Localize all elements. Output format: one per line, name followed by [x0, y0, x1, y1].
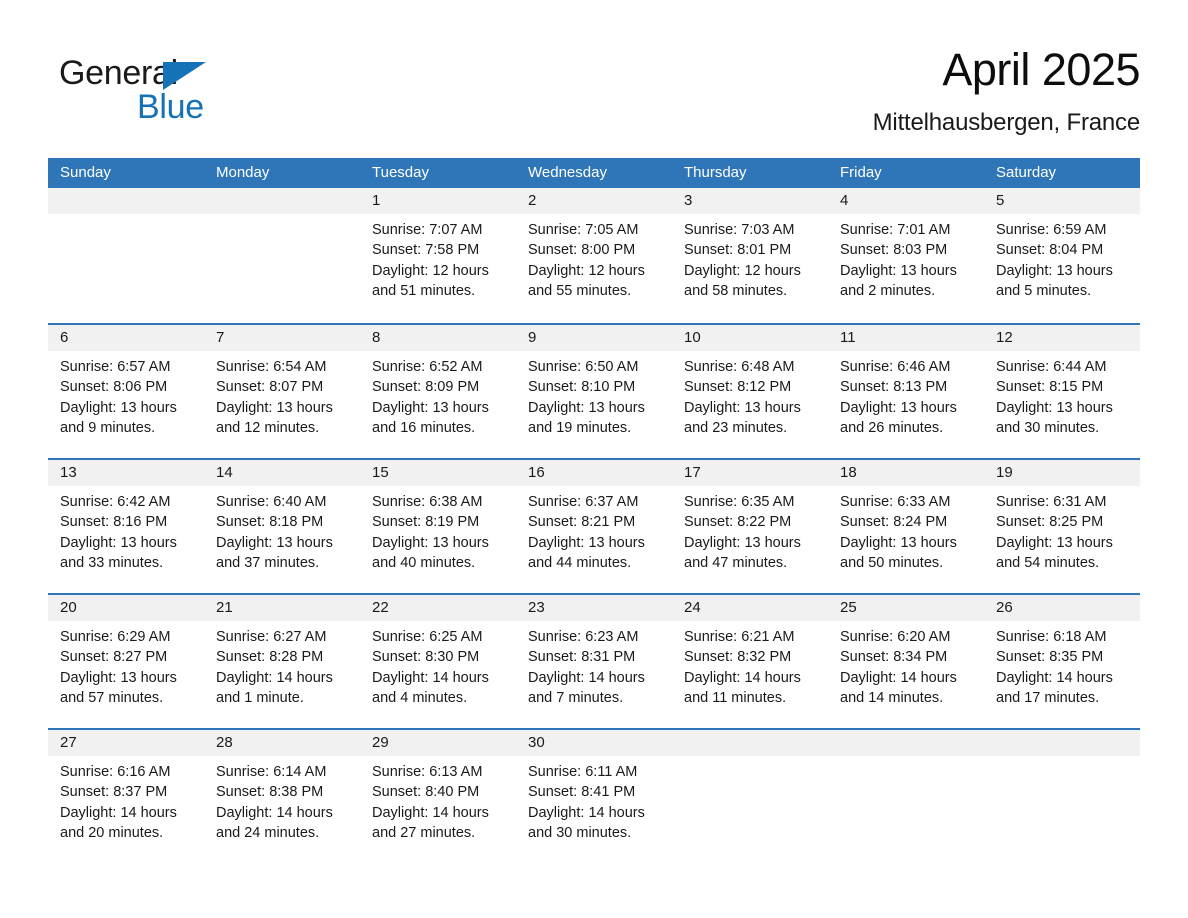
day-number: 10 [684, 329, 701, 346]
sunset-text: Sunset: 8:41 PM [528, 782, 662, 802]
daylight-text-line2: and 40 minutes. [372, 553, 506, 573]
day-number-band: 23 [516, 595, 672, 621]
sunset-text: Sunset: 7:58 PM [372, 240, 506, 260]
sunrise-text: Sunrise: 6:25 AM [372, 627, 506, 647]
calendar-day-cell[interactable]: 6Sunrise: 6:57 AMSunset: 8:06 PMDaylight… [48, 325, 204, 458]
day-number-band: 25 [828, 595, 984, 621]
calendar-day-cell[interactable]: 1Sunrise: 7:07 AMSunset: 7:58 PMDaylight… [360, 188, 516, 323]
daylight-text-line2: and 7 minutes. [528, 688, 662, 708]
calendar-day-cell[interactable]: 19Sunrise: 6:31 AMSunset: 8:25 PMDayligh… [984, 460, 1140, 593]
daylight-text-line2: and 47 minutes. [684, 553, 818, 573]
sunset-text: Sunset: 8:03 PM [840, 240, 974, 260]
day-number-band: 26 [984, 595, 1140, 621]
day-number-band: 16 [516, 460, 672, 486]
daylight-text-line1: Daylight: 13 hours [684, 398, 818, 418]
sunrise-text: Sunrise: 6:33 AM [840, 492, 974, 512]
daylight-text-line1: Daylight: 13 hours [372, 398, 506, 418]
day-number: 8 [372, 329, 380, 346]
daylight-text-line2: and 58 minutes. [684, 281, 818, 301]
calendar-day-cell[interactable]: 16Sunrise: 6:37 AMSunset: 8:21 PMDayligh… [516, 460, 672, 593]
daylight-text-line2: and 20 minutes. [60, 823, 194, 843]
day-details: Sunrise: 7:05 AMSunset: 8:00 PMDaylight:… [516, 214, 672, 302]
day-details: Sunrise: 6:31 AMSunset: 8:25 PMDaylight:… [984, 486, 1140, 574]
day-number-band: 11 [828, 325, 984, 351]
day-number: 18 [840, 464, 857, 481]
sunset-text: Sunset: 8:09 PM [372, 377, 506, 397]
daylight-text-line1: Daylight: 13 hours [528, 398, 662, 418]
day-details: Sunrise: 6:11 AMSunset: 8:41 PMDaylight:… [516, 756, 672, 844]
day-details: Sunrise: 6:35 AMSunset: 8:22 PMDaylight:… [672, 486, 828, 574]
day-number-band: 8 [360, 325, 516, 351]
day-number-band: 10 [672, 325, 828, 351]
day-number: 14 [216, 464, 233, 481]
sunrise-text: Sunrise: 7:03 AM [684, 220, 818, 240]
calendar-week-row: 13Sunrise: 6:42 AMSunset: 8:16 PMDayligh… [48, 458, 1140, 593]
calendar-day-cell[interactable]: 4Sunrise: 7:01 AMSunset: 8:03 PMDaylight… [828, 188, 984, 323]
sunrise-text: Sunrise: 6:44 AM [996, 357, 1130, 377]
daylight-text-line2: and 17 minutes. [996, 688, 1130, 708]
day-number-band [48, 188, 204, 214]
sunrise-text: Sunrise: 6:18 AM [996, 627, 1130, 647]
calendar-weeks: 1Sunrise: 7:07 AMSunset: 7:58 PMDaylight… [48, 188, 1140, 848]
daylight-text-line1: Daylight: 13 hours [216, 533, 350, 553]
day-number-band: 27 [48, 730, 204, 756]
sunrise-text: Sunrise: 6:29 AM [60, 627, 194, 647]
calendar-cell-empty [204, 188, 360, 323]
daylight-text-line2: and 12 minutes. [216, 418, 350, 438]
sunrise-text: Sunrise: 6:14 AM [216, 762, 350, 782]
sunset-text: Sunset: 8:22 PM [684, 512, 818, 532]
sunset-text: Sunset: 8:32 PM [684, 647, 818, 667]
day-details: Sunrise: 6:52 AMSunset: 8:09 PMDaylight:… [360, 351, 516, 439]
day-number-band: 24 [672, 595, 828, 621]
day-number-band: 12 [984, 325, 1140, 351]
sunset-text: Sunset: 8:35 PM [996, 647, 1130, 667]
daylight-text-line2: and 30 minutes. [528, 823, 662, 843]
calendar-day-cell[interactable]: 30Sunrise: 6:11 AMSunset: 8:41 PMDayligh… [516, 730, 672, 848]
page-title: April 2025 [873, 42, 1140, 98]
day-number-band: 1 [360, 188, 516, 214]
day-number: 27 [60, 734, 77, 751]
daylight-text-line1: Daylight: 14 hours [60, 803, 194, 823]
sunrise-text: Sunrise: 7:07 AM [372, 220, 506, 240]
sunset-text: Sunset: 8:04 PM [996, 240, 1130, 260]
daylight-text-line1: Daylight: 12 hours [372, 261, 506, 281]
day-details: Sunrise: 6:23 AMSunset: 8:31 PMDaylight:… [516, 621, 672, 709]
calendar-day-cell[interactable]: 22Sunrise: 6:25 AMSunset: 8:30 PMDayligh… [360, 595, 516, 728]
sunset-text: Sunset: 8:34 PM [840, 647, 974, 667]
day-number: 9 [528, 329, 536, 346]
calendar-day-cell[interactable]: 3Sunrise: 7:03 AMSunset: 8:01 PMDaylight… [672, 188, 828, 323]
daylight-text-line1: Daylight: 14 hours [528, 668, 662, 688]
daylight-text-line2: and 9 minutes. [60, 418, 194, 438]
calendar-day-cell[interactable]: 5Sunrise: 6:59 AMSunset: 8:04 PMDaylight… [984, 188, 1140, 323]
sunrise-text: Sunrise: 6:35 AM [684, 492, 818, 512]
day-number: 29 [372, 734, 389, 751]
calendar-day-cell[interactable]: 29Sunrise: 6:13 AMSunset: 8:40 PMDayligh… [360, 730, 516, 848]
day-details: Sunrise: 6:48 AMSunset: 8:12 PMDaylight:… [672, 351, 828, 439]
day-details: Sunrise: 6:46 AMSunset: 8:13 PMDaylight:… [828, 351, 984, 439]
daylight-text-line1: Daylight: 13 hours [840, 398, 974, 418]
calendar-cell-empty [48, 188, 204, 323]
daylight-text-line2: and 23 minutes. [684, 418, 818, 438]
daylight-text-line1: Daylight: 13 hours [216, 398, 350, 418]
daylight-text-line1: Daylight: 14 hours [684, 668, 818, 688]
daylight-text-line1: Daylight: 13 hours [840, 261, 974, 281]
calendar-cell-empty [828, 730, 984, 848]
day-details: Sunrise: 6:20 AMSunset: 8:34 PMDaylight:… [828, 621, 984, 709]
daylight-text-line2: and 2 minutes. [840, 281, 974, 301]
day-number-band [672, 730, 828, 756]
day-number-band [828, 730, 984, 756]
day-number: 7 [216, 329, 224, 346]
day-number: 12 [996, 329, 1013, 346]
daylight-text-line1: Daylight: 13 hours [528, 533, 662, 553]
sunrise-text: Sunrise: 6:50 AM [528, 357, 662, 377]
sunrise-text: Sunrise: 6:40 AM [216, 492, 350, 512]
day-number: 22 [372, 599, 389, 616]
daylight-text-line2: and 54 minutes. [996, 553, 1130, 573]
calendar-week-row: 20Sunrise: 6:29 AMSunset: 8:27 PMDayligh… [48, 593, 1140, 728]
day-details: Sunrise: 6:14 AMSunset: 8:38 PMDaylight:… [204, 756, 360, 844]
daylight-text-line2: and 4 minutes. [372, 688, 506, 708]
daylight-text-line2: and 11 minutes. [684, 688, 818, 708]
day-number: 28 [216, 734, 233, 751]
weekday-header-row: SundayMondayTuesdayWednesdayThursdayFrid… [48, 158, 1140, 188]
day-number-band: 4 [828, 188, 984, 214]
calendar-day-cell[interactable]: 7Sunrise: 6:54 AMSunset: 8:07 PMDaylight… [204, 325, 360, 458]
calendar-week-row: 27Sunrise: 6:16 AMSunset: 8:37 PMDayligh… [48, 728, 1140, 848]
day-number: 2 [528, 192, 536, 209]
sunset-text: Sunset: 8:16 PM [60, 512, 194, 532]
calendar-day-cell[interactable]: 17Sunrise: 6:35 AMSunset: 8:22 PMDayligh… [672, 460, 828, 593]
day-number-band: 30 [516, 730, 672, 756]
sunset-text: Sunset: 8:24 PM [840, 512, 974, 532]
daylight-text-line2: and 26 minutes. [840, 418, 974, 438]
sunrise-text: Sunrise: 7:01 AM [840, 220, 974, 240]
calendar-day-cell[interactable]: 21Sunrise: 6:27 AMSunset: 8:28 PMDayligh… [204, 595, 360, 728]
sunrise-text: Sunrise: 6:38 AM [372, 492, 506, 512]
daylight-text-line1: Daylight: 14 hours [528, 803, 662, 823]
day-number: 11 [840, 329, 856, 346]
daylight-text-line1: Daylight: 14 hours [216, 668, 350, 688]
calendar-day-cell[interactable]: 2Sunrise: 7:05 AMSunset: 8:00 PMDaylight… [516, 188, 672, 323]
sunset-text: Sunset: 8:10 PM [528, 377, 662, 397]
daylight-text-line2: and 55 minutes. [528, 281, 662, 301]
daylight-text-line1: Daylight: 13 hours [60, 533, 194, 553]
daylight-text-line2: and 44 minutes. [528, 553, 662, 573]
day-number-band: 17 [672, 460, 828, 486]
daylight-text-line1: Daylight: 14 hours [216, 803, 350, 823]
calendar-day-cell[interactable]: 25Sunrise: 6:20 AMSunset: 8:34 PMDayligh… [828, 595, 984, 728]
sunrise-text: Sunrise: 7:05 AM [528, 220, 662, 240]
sunrise-text: Sunrise: 6:20 AM [840, 627, 974, 647]
sunrise-text: Sunrise: 6:48 AM [684, 357, 818, 377]
day-details: Sunrise: 6:13 AMSunset: 8:40 PMDaylight:… [360, 756, 516, 844]
day-details: Sunrise: 6:50 AMSunset: 8:10 PMDaylight:… [516, 351, 672, 439]
sunrise-text: Sunrise: 6:27 AM [216, 627, 350, 647]
daylight-text-line1: Daylight: 13 hours [996, 533, 1130, 553]
weekday-header-sunday: Sunday [48, 158, 204, 188]
calendar-day-cell[interactable]: 10Sunrise: 6:48 AMSunset: 8:12 PMDayligh… [672, 325, 828, 458]
day-number: 5 [996, 192, 1004, 209]
calendar-day-cell[interactable]: 28Sunrise: 6:14 AMSunset: 8:38 PMDayligh… [204, 730, 360, 848]
daylight-text-line1: Daylight: 13 hours [60, 398, 194, 418]
daylight-text-line1: Daylight: 12 hours [528, 261, 662, 281]
day-number-band: 29 [360, 730, 516, 756]
sunrise-text: Sunrise: 6:11 AM [528, 762, 662, 782]
day-number: 4 [840, 192, 848, 209]
day-number-band: 13 [48, 460, 204, 486]
day-number: 19 [996, 464, 1013, 481]
sunset-text: Sunset: 8:21 PM [528, 512, 662, 532]
day-details: Sunrise: 7:07 AMSunset: 7:58 PMDaylight:… [360, 214, 516, 302]
sunrise-text: Sunrise: 6:46 AM [840, 357, 974, 377]
daylight-text-line2: and 16 minutes. [372, 418, 506, 438]
day-number-band: 22 [360, 595, 516, 621]
day-number-band: 28 [204, 730, 360, 756]
sunset-text: Sunset: 8:19 PM [372, 512, 506, 532]
day-number: 30 [528, 734, 545, 751]
daylight-text-line1: Daylight: 14 hours [372, 803, 506, 823]
sunset-text: Sunset: 8:40 PM [372, 782, 506, 802]
day-number: 25 [840, 599, 857, 616]
daylight-text-line1: Daylight: 14 hours [840, 668, 974, 688]
weekday-header-monday: Monday [204, 158, 360, 188]
day-number: 13 [60, 464, 77, 481]
sunset-text: Sunset: 8:12 PM [684, 377, 818, 397]
daylight-text-line1: Daylight: 13 hours [996, 261, 1130, 281]
day-number: 23 [528, 599, 545, 616]
daylight-text-line2: and 51 minutes. [372, 281, 506, 301]
day-details: Sunrise: 6:27 AMSunset: 8:28 PMDaylight:… [204, 621, 360, 709]
sunset-text: Sunset: 8:01 PM [684, 240, 818, 260]
daylight-text-line1: Daylight: 13 hours [996, 398, 1130, 418]
daylight-text-line1: Daylight: 13 hours [684, 533, 818, 553]
sunset-text: Sunset: 8:06 PM [60, 377, 194, 397]
calendar-day-cell[interactable]: 9Sunrise: 6:50 AMSunset: 8:10 PMDaylight… [516, 325, 672, 458]
logo-blue-text: Blue [137, 88, 204, 127]
sunset-text: Sunset: 8:13 PM [840, 377, 974, 397]
sunset-text: Sunset: 8:18 PM [216, 512, 350, 532]
calendar-day-cell[interactable]: 27Sunrise: 6:16 AMSunset: 8:37 PMDayligh… [48, 730, 204, 848]
day-details: Sunrise: 6:57 AMSunset: 8:06 PMDaylight:… [48, 351, 204, 439]
day-number-band [984, 730, 1140, 756]
sunset-text: Sunset: 8:00 PM [528, 240, 662, 260]
day-details: Sunrise: 6:54 AMSunset: 8:07 PMDaylight:… [204, 351, 360, 439]
day-details: Sunrise: 6:42 AMSunset: 8:16 PMDaylight:… [48, 486, 204, 574]
day-number: 6 [60, 329, 68, 346]
day-number-band: 5 [984, 188, 1140, 214]
title-block: April 2025 Mittelhausbergen, France [873, 42, 1140, 140]
day-number-band: 14 [204, 460, 360, 486]
day-details: Sunrise: 6:40 AMSunset: 8:18 PMDaylight:… [204, 486, 360, 574]
day-number: 26 [996, 599, 1013, 616]
calendar-table: SundayMondayTuesdayWednesdayThursdayFrid… [48, 158, 1140, 848]
day-number-band: 3 [672, 188, 828, 214]
day-number: 21 [216, 599, 233, 616]
calendar-day-cell[interactable]: 11Sunrise: 6:46 AMSunset: 8:13 PMDayligh… [828, 325, 984, 458]
daylight-text-line2: and 1 minute. [216, 688, 350, 708]
weekday-header-thursday: Thursday [672, 158, 828, 188]
calendar-cell-empty [672, 730, 828, 848]
calendar-day-cell[interactable]: 26Sunrise: 6:18 AMSunset: 8:35 PMDayligh… [984, 595, 1140, 728]
day-number-band: 15 [360, 460, 516, 486]
daylight-text-line2: and 33 minutes. [60, 553, 194, 573]
calendar-cell-empty [984, 730, 1140, 848]
day-details: Sunrise: 6:25 AMSunset: 8:30 PMDaylight:… [360, 621, 516, 709]
day-number: 16 [528, 464, 545, 481]
calendar-day-cell[interactable]: 8Sunrise: 6:52 AMSunset: 8:09 PMDaylight… [360, 325, 516, 458]
day-number: 20 [60, 599, 77, 616]
daylight-text-line1: Daylight: 13 hours [372, 533, 506, 553]
sunrise-text: Sunrise: 6:59 AM [996, 220, 1130, 240]
sunset-text: Sunset: 8:07 PM [216, 377, 350, 397]
calendar-day-cell[interactable]: 12Sunrise: 6:44 AMSunset: 8:15 PMDayligh… [984, 325, 1140, 458]
sunrise-text: Sunrise: 6:54 AM [216, 357, 350, 377]
daylight-text-line1: Daylight: 14 hours [996, 668, 1130, 688]
daylight-text-line2: and 24 minutes. [216, 823, 350, 843]
day-number-band: 18 [828, 460, 984, 486]
sunset-text: Sunset: 8:31 PM [528, 647, 662, 667]
sunrise-text: Sunrise: 6:57 AM [60, 357, 194, 377]
day-details: Sunrise: 6:33 AMSunset: 8:24 PMDaylight:… [828, 486, 984, 574]
day-details: Sunrise: 6:29 AMSunset: 8:27 PMDaylight:… [48, 621, 204, 709]
calendar-day-cell[interactable]: 20Sunrise: 6:29 AMSunset: 8:27 PMDayligh… [48, 595, 204, 728]
calendar-day-cell[interactable]: 13Sunrise: 6:42 AMSunset: 8:16 PMDayligh… [48, 460, 204, 593]
day-details: Sunrise: 6:44 AMSunset: 8:15 PMDaylight:… [984, 351, 1140, 439]
weekday-header-tuesday: Tuesday [360, 158, 516, 188]
weekday-header-saturday: Saturday [984, 158, 1140, 188]
day-details: Sunrise: 6:38 AMSunset: 8:19 PMDaylight:… [360, 486, 516, 574]
day-number: 24 [684, 599, 701, 616]
day-details: Sunrise: 6:59 AMSunset: 8:04 PMDaylight:… [984, 214, 1140, 302]
day-number-band: 20 [48, 595, 204, 621]
sunrise-text: Sunrise: 6:16 AM [60, 762, 194, 782]
daylight-text-line2: and 37 minutes. [216, 553, 350, 573]
calendar-day-cell[interactable]: 23Sunrise: 6:23 AMSunset: 8:31 PMDayligh… [516, 595, 672, 728]
daylight-text-line2: and 5 minutes. [996, 281, 1130, 301]
daylight-text-line1: Daylight: 12 hours [684, 261, 818, 281]
daylight-text-line1: Daylight: 13 hours [840, 533, 974, 553]
sunset-text: Sunset: 8:30 PM [372, 647, 506, 667]
masthead: General Blue April 2025 Mittelhausbergen… [48, 42, 1140, 142]
day-number-band: 9 [516, 325, 672, 351]
sunset-text: Sunset: 8:27 PM [60, 647, 194, 667]
weekday-header-wednesday: Wednesday [516, 158, 672, 188]
calendar-day-cell[interactable]: 14Sunrise: 6:40 AMSunset: 8:18 PMDayligh… [204, 460, 360, 593]
sunset-text: Sunset: 8:38 PM [216, 782, 350, 802]
triangle-icon [163, 62, 206, 90]
day-details: Sunrise: 6:16 AMSunset: 8:37 PMDaylight:… [48, 756, 204, 844]
day-details: Sunrise: 6:21 AMSunset: 8:32 PMDaylight:… [672, 621, 828, 709]
sunrise-text: Sunrise: 6:52 AM [372, 357, 506, 377]
sunrise-text: Sunrise: 6:23 AM [528, 627, 662, 647]
daylight-text-line2: and 14 minutes. [840, 688, 974, 708]
daylight-text-line1: Daylight: 13 hours [60, 668, 194, 688]
calendar-day-cell[interactable]: 18Sunrise: 6:33 AMSunset: 8:24 PMDayligh… [828, 460, 984, 593]
calendar-page: General Blue April 2025 Mittelhausbergen… [0, 0, 1188, 918]
calendar-week-row: 1Sunrise: 7:07 AMSunset: 7:58 PMDaylight… [48, 188, 1140, 323]
sunrise-text: Sunrise: 6:21 AM [684, 627, 818, 647]
daylight-text-line2: and 30 minutes. [996, 418, 1130, 438]
weekday-header-friday: Friday [828, 158, 984, 188]
sunset-text: Sunset: 8:25 PM [996, 512, 1130, 532]
calendar-day-cell[interactable]: 15Sunrise: 6:38 AMSunset: 8:19 PMDayligh… [360, 460, 516, 593]
sunrise-text: Sunrise: 6:31 AM [996, 492, 1130, 512]
day-details: Sunrise: 7:01 AMSunset: 8:03 PMDaylight:… [828, 214, 984, 302]
sunrise-text: Sunrise: 6:42 AM [60, 492, 194, 512]
day-number-band: 6 [48, 325, 204, 351]
daylight-text-line2: and 19 minutes. [528, 418, 662, 438]
general-blue-logo[interactable]: General Blue [59, 54, 319, 134]
sunset-text: Sunset: 8:15 PM [996, 377, 1130, 397]
day-number: 15 [372, 464, 389, 481]
daylight-text-line2: and 27 minutes. [372, 823, 506, 843]
location-subtitle: Mittelhausbergen, France [873, 106, 1140, 140]
day-number-band: 19 [984, 460, 1140, 486]
day-number-band: 2 [516, 188, 672, 214]
sunrise-text: Sunrise: 6:37 AM [528, 492, 662, 512]
sunrise-text: Sunrise: 6:13 AM [372, 762, 506, 782]
day-number: 1 [372, 192, 380, 209]
daylight-text-line1: Daylight: 14 hours [372, 668, 506, 688]
day-details: Sunrise: 6:18 AMSunset: 8:35 PMDaylight:… [984, 621, 1140, 709]
calendar-week-row: 6Sunrise: 6:57 AMSunset: 8:06 PMDaylight… [48, 323, 1140, 458]
day-details: Sunrise: 7:03 AMSunset: 8:01 PMDaylight:… [672, 214, 828, 302]
day-details: Sunrise: 6:37 AMSunset: 8:21 PMDaylight:… [516, 486, 672, 574]
day-number-band: 7 [204, 325, 360, 351]
calendar-day-cell[interactable]: 24Sunrise: 6:21 AMSunset: 8:32 PMDayligh… [672, 595, 828, 728]
sunset-text: Sunset: 8:28 PM [216, 647, 350, 667]
daylight-text-line2: and 50 minutes. [840, 553, 974, 573]
daylight-text-line2: and 57 minutes. [60, 688, 194, 708]
sunset-text: Sunset: 8:37 PM [60, 782, 194, 802]
day-number-band: 21 [204, 595, 360, 621]
day-number-band [204, 188, 360, 214]
day-number: 17 [684, 464, 701, 481]
day-number: 3 [684, 192, 692, 209]
